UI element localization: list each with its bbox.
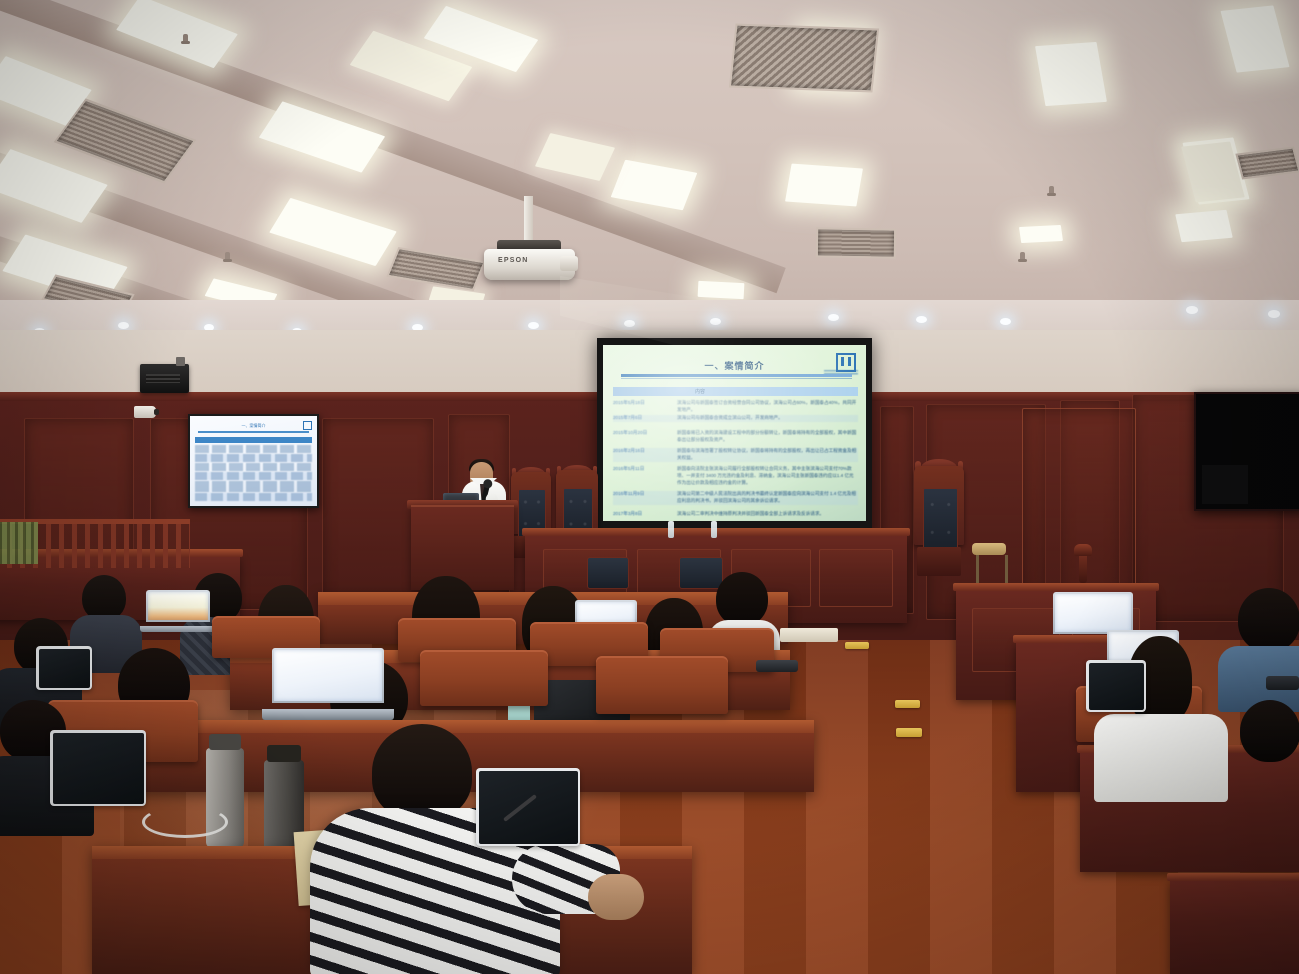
wall-camera (134, 406, 156, 418)
slide-row-date: 2016年11月9日 (613, 491, 671, 505)
slide-title-rule (621, 374, 852, 377)
right-bottom-desk (1170, 880, 1299, 974)
slide-row-date: 2016年2月16日 (613, 448, 671, 462)
slide-table-row: 2015年5月18日 滨海公司与新国泰签订合资经营合同公司协议，滨海公司占60%… (613, 400, 858, 414)
slide-row-desc: 滨海公司与新国泰合资成立滨山公司，开发商地产。 (677, 415, 858, 422)
slide-table-header (613, 387, 858, 396)
monitor-title-rule (198, 431, 309, 433)
phone-on-desk[interactable] (756, 660, 798, 672)
sprinkler-head (1020, 252, 1025, 261)
ceiling: EPSON (0, 0, 1299, 345)
scales-ornament-head (1074, 544, 1092, 556)
slide-table-row: 2017年3月8日 滨海公司二审判决中维持原判决并驳回新国泰全部上诉请求及反诉请… (613, 511, 858, 518)
projection-screen: 一、案情简介 内容 2015年5月18日 滨海公司与新国泰签订合资经营合同公司协… (603, 345, 866, 521)
wall-speaker (140, 364, 189, 393)
white-earphones (142, 806, 228, 838)
slide-row-desc: 滨海公司二审判决中维持原判决并驳回新国泰全部上诉请求及反诉请求。 (677, 511, 858, 518)
projection-screen-frame: 一、案情简介 内容 2015年5月18日 滨海公司与新国泰签订合资经营合同公司协… (597, 338, 872, 543)
phone-on-desk[interactable] (1266, 676, 1299, 690)
student-tablet[interactable] (476, 768, 580, 846)
side-chair[interactable] (972, 543, 1006, 555)
slide-row-desc: 新国泰与滨海签署了股权转让协议，新国泰将持有的全部股权，再出让已占工程资金及相关… (677, 448, 858, 462)
slide-row-desc: 新国泰向法院主张滨海公司履行全部股权转让合同义务，其中主张滨海公司支付70%款项… (677, 466, 858, 487)
courtroom-lecture-photo: EPSON 一、案 (0, 0, 1299, 974)
sprinkler-head (1049, 186, 1054, 195)
student-tablet[interactable] (50, 730, 146, 806)
right-wall-tv[interactable] (1194, 392, 1299, 511)
slide-row-date: 2017年3月8日 (613, 511, 671, 518)
water-bottle (668, 521, 674, 538)
slide-row-desc: 滨海公司第二中级人民法院出具的判决书最终认定新国泰应向滨海公司支付 1.4 亿元… (677, 491, 858, 505)
monitor-table-header (195, 437, 312, 443)
slide-title: 一、案情简介 (704, 359, 764, 372)
slide-title-rule-thin (621, 378, 852, 379)
slide-row-desc: 滨海公司与新国泰签订合资经营合同公司协议，滨海公司占60%，新国泰占40%，共同… (677, 400, 858, 414)
speaker-podium (411, 505, 514, 590)
monitor-logo-icon (303, 421, 312, 430)
left-monitor-screen: 一、案情简介 (190, 416, 317, 506)
slide-row-date: 2016年5月11日 (613, 466, 671, 487)
seat-back[interactable] (420, 650, 548, 706)
student-tablet[interactable] (1086, 660, 1146, 712)
floor-outlet-plate (896, 728, 922, 737)
slide-row-date: 2015年5月18日 (613, 400, 671, 414)
notebook-on-desk (780, 628, 838, 642)
slide-row-date: 2015年7月6日 (613, 415, 671, 422)
monitor-slide-title: 一、案情简介 (242, 423, 266, 429)
judge-chair-far-right[interactable] (914, 466, 964, 576)
floor-outlet-plate (895, 700, 920, 708)
projector-brand-label: EPSON (498, 257, 529, 264)
water-bottle (711, 521, 717, 538)
bench-seat-back[interactable] (679, 557, 723, 589)
slide-table-row: 2015年7月6日 滨海公司与新国泰合资成立滨山公司，开发商地产。 (613, 415, 858, 422)
slide-header-label: 内容 (695, 388, 705, 395)
sprinkler-head (183, 34, 188, 43)
student-laptop[interactable] (146, 590, 210, 632)
window-with-greenery (0, 522, 38, 564)
slide-row-desc: 新国泰将已入资的滨海建设工程中的部分份额转让，新国泰将持有的全部股权，其中新国泰… (677, 430, 858, 444)
seat-back[interactable] (596, 656, 728, 714)
projector-pole (524, 196, 533, 244)
slide-table-row: 2016年5月11日 新国泰向法院主张滨海公司履行全部股权转让合同义务，其中主张… (613, 466, 858, 487)
student-tablet[interactable] (36, 646, 92, 690)
slide-row-date: 2015年10月20日 (613, 430, 671, 444)
student-forearm (588, 874, 644, 920)
floor-outlet-plate (845, 642, 869, 649)
speaker-bracket (176, 357, 185, 366)
left-wall-monitor[interactable]: 一、案情简介 (188, 414, 319, 508)
sprinkler-head (225, 252, 230, 261)
slide-table-row: 2016年11月9日 滨海公司第二中级人民法院出具的判决书最终认定新国泰应向滨海… (613, 491, 858, 505)
slide-table-row: 2015年10月20日 新国泰将已入资的滨海建设工程中的部分份额转让，新国泰将持… (613, 430, 858, 444)
bench-seat-back[interactable] (587, 557, 629, 589)
student-laptop[interactable] (272, 648, 384, 720)
projector-lens (560, 256, 578, 271)
slide-table-row: 2016年2月16日 新国泰与滨海签署了股权转让协议，新国泰将持有的全部股权，再… (613, 448, 858, 462)
